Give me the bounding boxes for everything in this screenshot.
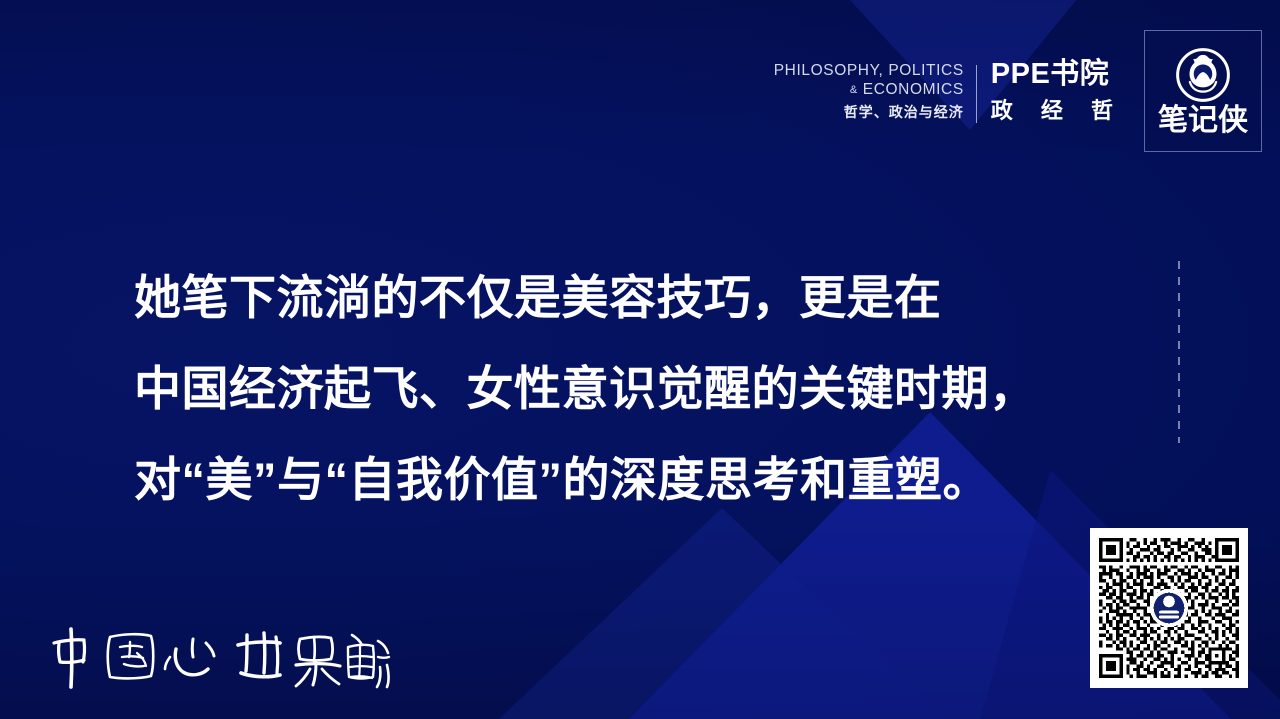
brand-english-block: PHILOSOPHY, POLITICS & ECONOMICS 哲学、政治与经… [774,61,976,122]
brand-english-line2: & ECONOMICS [774,80,964,99]
brand-chinese-subtitle: 哲学、政治与经济 [774,104,964,121]
ninja-avatar-icon [1175,47,1231,103]
brand-header: PHILOSOPHY, POLITICS & ECONOMICS 哲学、政治与经… [774,28,1262,154]
quote-block: 她笔下流淌的不仅是美容技巧，更是在 中国经济起飞、女性意识觉醒的关键时期， 对“… [134,252,1094,525]
brand-english-economics: ECONOMICS [863,81,964,98]
brand-ampersand: & [850,84,858,96]
publisher-logo-box[interactable]: 笔记侠 [1144,30,1262,152]
brand-chinese-block: PPE书院 政 经 哲 [977,59,1124,123]
brand-english-line1: PHILOSOPHY, POLITICS [774,61,964,80]
quote-line-2: 中国经济起飞、女性意识觉醒的关键时期， [134,343,1094,434]
quote-line-1: 她笔下流淌的不仅是美容技巧，更是在 [134,252,1094,343]
quote-line-3: 对“美”与“自我价值”的深度思考和重塑。 [134,434,1094,525]
publisher-logo-text: 笔记侠 [1158,106,1248,136]
dashed-divider [1178,261,1180,443]
slide-canvas: PHILOSOPHY, POLITICS & ECONOMICS 哲学、政治与经… [0,0,1280,719]
calligraphy-slogan [42,623,392,695]
brand-main-title: PPE书院 [991,59,1124,91]
qr-code-panel[interactable] [1090,528,1248,688]
brand-sub-title: 政 经 哲 [991,99,1124,123]
